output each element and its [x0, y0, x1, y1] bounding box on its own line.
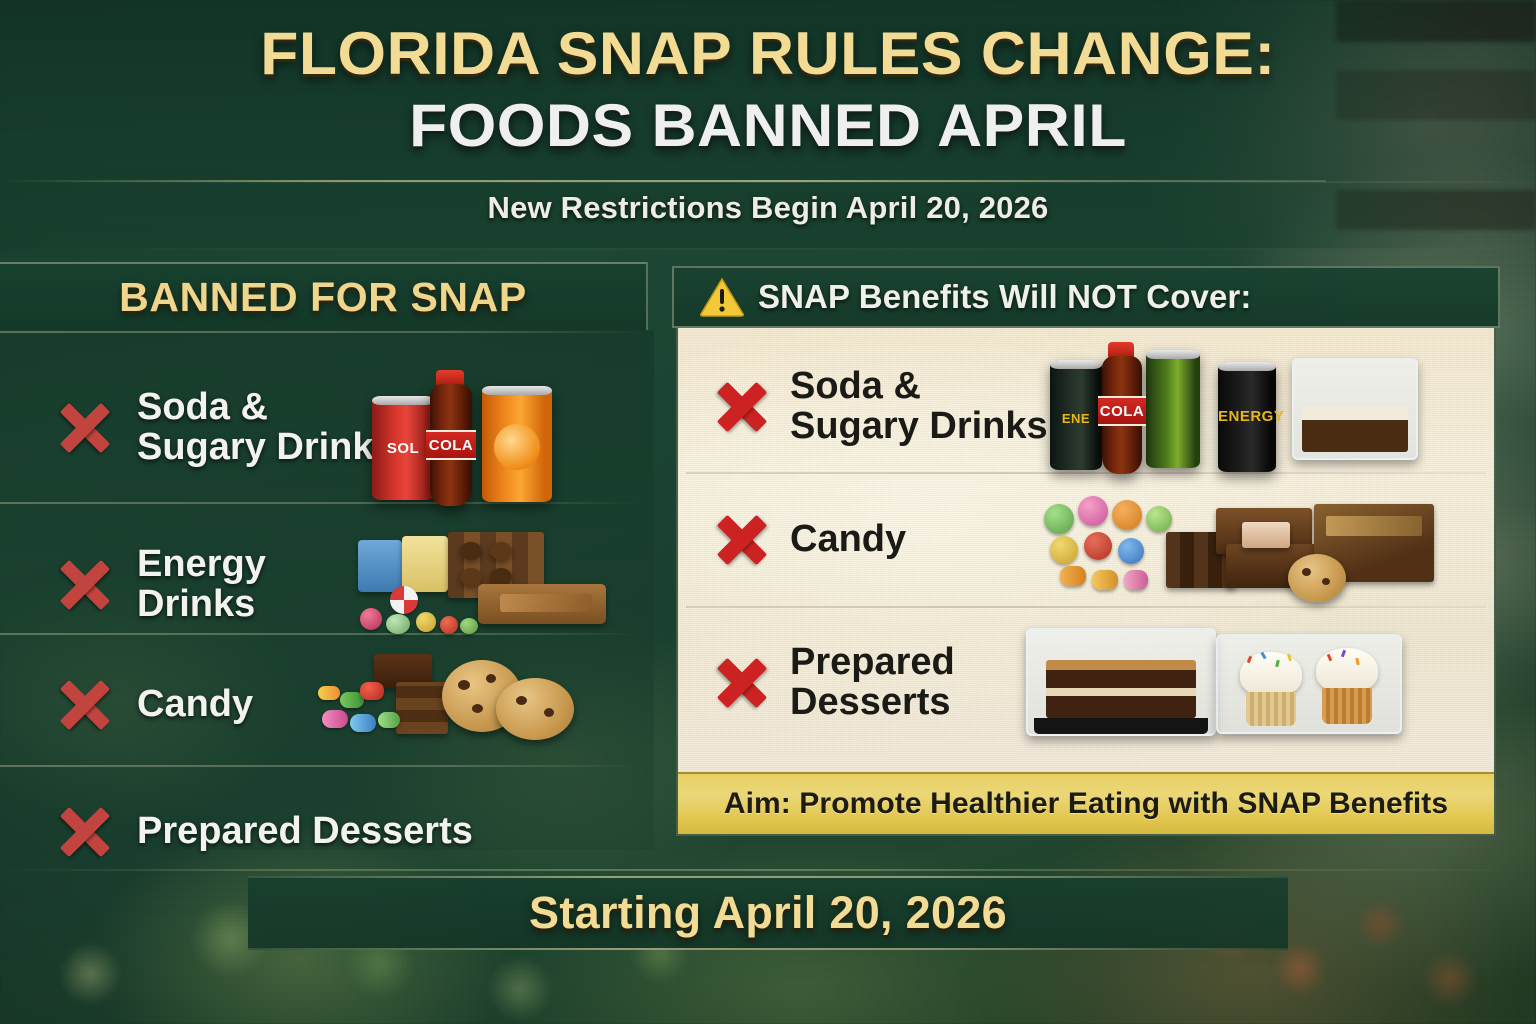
list-item-label-line1: Candy — [790, 520, 906, 560]
list-item-label-line1: Prepared — [790, 643, 955, 683]
list-item-label: Candy — [137, 685, 253, 725]
header: FLORIDA SNAP RULES CHANGE: FOODS BANNED … — [0, 0, 1536, 250]
list-item-label-line1: Candy — [137, 685, 253, 725]
list-item-label-line1: Prepared Desserts — [137, 812, 473, 852]
left-panel-body: Soda & Sugary Drinks SOL COLA En — [0, 330, 654, 850]
footer-banner: Starting April 20, 2026 — [248, 876, 1288, 950]
footer-text: Starting April 20, 2026 — [529, 887, 1007, 939]
list-item: Soda & Sugary Drinks — [678, 352, 1494, 462]
list-item-label-line1: Soda & — [790, 367, 1048, 407]
list-item-label-line1: Energy — [137, 545, 266, 585]
row-divider — [0, 502, 640, 504]
red-x-icon — [714, 379, 770, 435]
list-item-label: Soda & Sugary Drinks — [790, 367, 1048, 446]
red-x-icon — [55, 675, 115, 735]
left-panel-header: BANNED FOR SNAP — [0, 262, 648, 330]
red-x-icon — [714, 512, 770, 568]
row-divider — [0, 765, 640, 767]
list-item: Candy — [678, 500, 1494, 580]
right-panel-header: SNAP Benefits Will NOT Cover: — [672, 266, 1500, 328]
aim-banner: Aim: Promote Healthier Eating with SNAP … — [678, 772, 1494, 834]
list-item-label: Energy Drinks — [137, 545, 266, 625]
list-item-label: Candy — [790, 520, 906, 560]
warning-triangle-icon — [700, 277, 744, 317]
right-panel-title-suffix: Cover: — [1137, 278, 1251, 315]
list-item-label-line2: Sugary Drinks — [137, 428, 395, 468]
list-item: Energy Drinks — [0, 530, 654, 640]
right-panel-title-emphasis: NOT — [1067, 278, 1137, 315]
page-title-line1: FLORIDA SNAP RULES CHANGE: — [0, 24, 1536, 84]
red-x-icon — [55, 555, 115, 615]
red-x-icon — [55, 802, 115, 862]
aim-text: Aim: Promote Healthier Eating with SNAP … — [724, 787, 1448, 821]
right-panel-title: SNAP Benefits Will NOT Cover: — [758, 278, 1251, 316]
row-divider — [686, 606, 1486, 608]
list-item-label-line1: Soda & — [137, 388, 395, 428]
right-panel-body: Soda & Sugary Drinks ENE COLA ENERGY — [676, 328, 1496, 836]
list-item: Prepared Desserts — [0, 792, 654, 872]
left-panel-title: BANNED FOR SNAP — [119, 274, 527, 321]
list-item-label-line2: Drinks — [137, 585, 266, 625]
list-item-label-line2: Sugary Drinks — [790, 407, 1048, 447]
row-divider — [686, 472, 1486, 474]
list-item-label: Prepared Desserts — [137, 812, 473, 852]
red-x-icon — [714, 655, 770, 711]
list-item-label: Soda & Sugary Drinks — [137, 388, 395, 468]
right-panel-title-prefix: SNAP Benefits Will — [758, 278, 1067, 315]
list-item-label: Prepared Desserts — [790, 643, 955, 722]
list-item: Soda & Sugary Drinks — [0, 368, 654, 488]
header-divider — [0, 180, 1326, 182]
row-divider — [0, 331, 640, 333]
page-subtitle: New Restrictions Begin April 20, 2026 — [0, 190, 1536, 226]
snap-not-cover-panel: SNAP Benefits Will NOT Cover: Soda & Sug… — [672, 266, 1500, 836]
list-item: Prepared Desserts — [678, 628, 1494, 738]
page-title-line2: FOODS BANNED APRIL — [0, 96, 1536, 156]
red-x-icon — [55, 398, 115, 458]
list-item-label-line2: Desserts — [790, 683, 955, 723]
list-item: Candy — [0, 660, 654, 750]
banned-for-snap-panel: BANNED FOR SNAP Soda & Sugary Drinks SOL — [0, 262, 654, 850]
